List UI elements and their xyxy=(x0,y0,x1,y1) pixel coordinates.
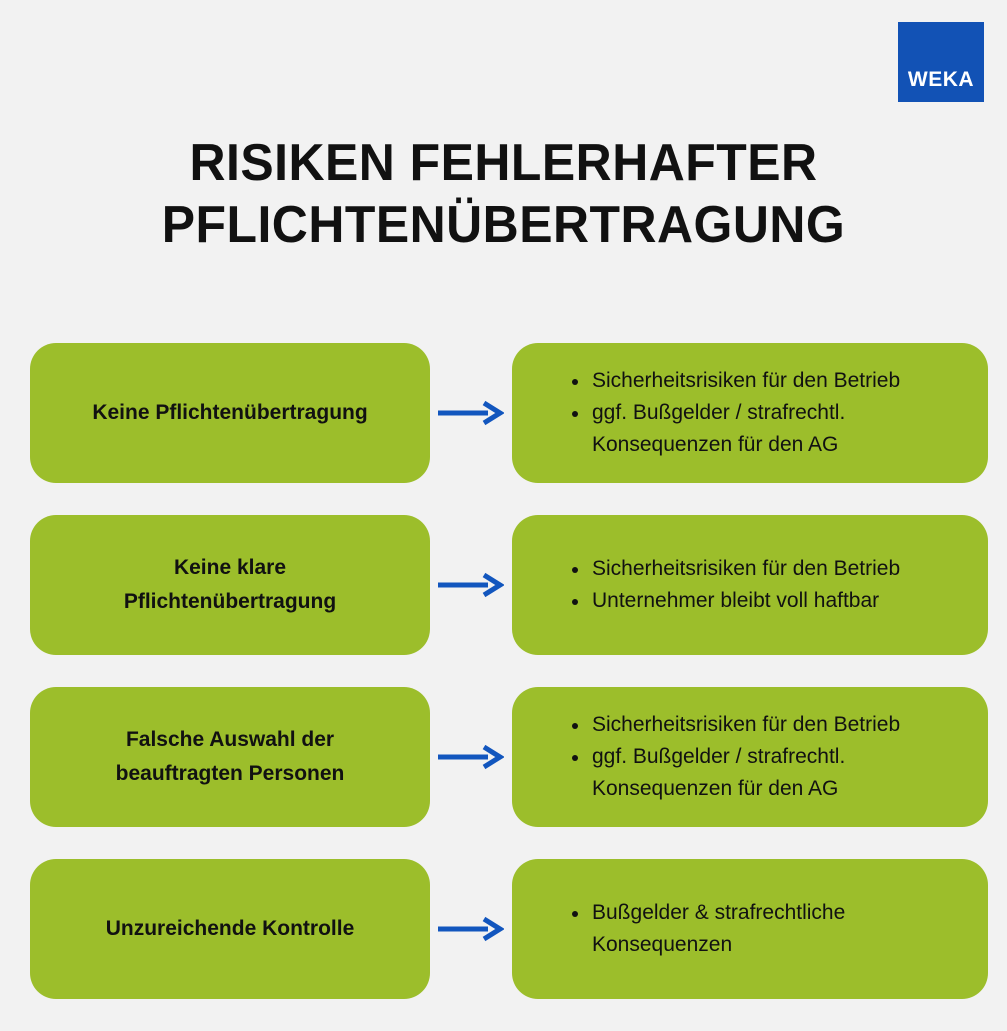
cause-label-line: Unzureichende Kontrolle xyxy=(106,917,355,940)
arrow-right-icon xyxy=(438,744,504,770)
cause-box: Unzureichende Kontrolle xyxy=(30,859,430,999)
risk-row: Keine klare Pflichtenübertragung Sicherh… xyxy=(0,515,1007,655)
list-item: Bußgelder & strafrechtliche Konsequenzen xyxy=(572,897,964,961)
cause-label-line: Falsche Auswahl der xyxy=(126,728,334,751)
risk-row: Unzureichende Kontrolle Bußgelder & stra… xyxy=(0,859,1007,999)
weka-logo-text: WEKA xyxy=(908,69,974,90)
consequence-box: Sicherheitsrisiken für den Betrieb ggf. … xyxy=(512,343,988,483)
list-item: Sicherheitsrisiken für den Betrieb xyxy=(572,709,964,741)
consequence-list: Sicherheitsrisiken für den Betrieb ggf. … xyxy=(572,365,964,461)
list-item: ggf. Bußgelder / strafrechtl. Konsequenz… xyxy=(572,397,964,461)
list-item: Unternehmer bleibt voll haftbar xyxy=(572,585,964,617)
cause-label-line: Keine klare xyxy=(174,556,286,579)
risk-row: Falsche Auswahl der beauftragten Persone… xyxy=(0,687,1007,827)
arrow-right-icon xyxy=(438,916,504,942)
list-item: ggf. Bußgelder / strafrechtl. Konsequenz… xyxy=(572,741,964,805)
weka-logo: WEKA xyxy=(898,22,984,102)
page-title-line-2: PFLICHTENÜBERTRAGUNG xyxy=(20,194,987,256)
consequence-box: Bußgelder & strafrechtliche Konsequenzen xyxy=(512,859,988,999)
consequence-list: Sicherheitsrisiken für den Betrieb Unter… xyxy=(572,553,964,617)
cause-box: Keine Pflichtenübertragung xyxy=(30,343,430,483)
arrow-right-icon xyxy=(438,572,504,598)
cause-label-line: Pflichtenübertragung xyxy=(124,590,336,613)
consequence-box: Sicherheitsrisiken für den Betrieb Unter… xyxy=(512,515,988,655)
cause-box: Keine klare Pflichtenübertragung xyxy=(30,515,430,655)
risk-row: Keine Pflichtenübertragung Sicherheitsri… xyxy=(0,343,1007,483)
cause-label: Falsche Auswahl der beauftragten Persone… xyxy=(116,723,345,791)
consequence-list: Bußgelder & strafrechtliche Konsequenzen xyxy=(572,897,964,961)
consequence-list: Sicherheitsrisiken für den Betrieb ggf. … xyxy=(572,709,964,805)
cause-label: Keine Pflichtenübertragung xyxy=(92,396,367,430)
cause-label: Keine klare Pflichtenübertragung xyxy=(124,551,336,619)
page-title: RISIKEN FEHLERHAFTER PFLICHTENÜBERTRAGUN… xyxy=(20,132,987,256)
cause-label-line: beauftragten Personen xyxy=(116,762,345,785)
risk-rows: Keine Pflichtenübertragung Sicherheitsri… xyxy=(0,343,1007,1031)
cause-label: Unzureichende Kontrolle xyxy=(106,912,355,946)
page-title-line-1: RISIKEN FEHLERHAFTER xyxy=(20,132,987,194)
list-item: Sicherheitsrisiken für den Betrieb xyxy=(572,365,964,397)
arrow-right-icon xyxy=(438,400,504,426)
cause-box: Falsche Auswahl der beauftragten Persone… xyxy=(30,687,430,827)
cause-label-line: Keine Pflichtenübertragung xyxy=(92,401,367,424)
list-item: Sicherheitsrisiken für den Betrieb xyxy=(572,553,964,585)
consequence-box: Sicherheitsrisiken für den Betrieb ggf. … xyxy=(512,687,988,827)
